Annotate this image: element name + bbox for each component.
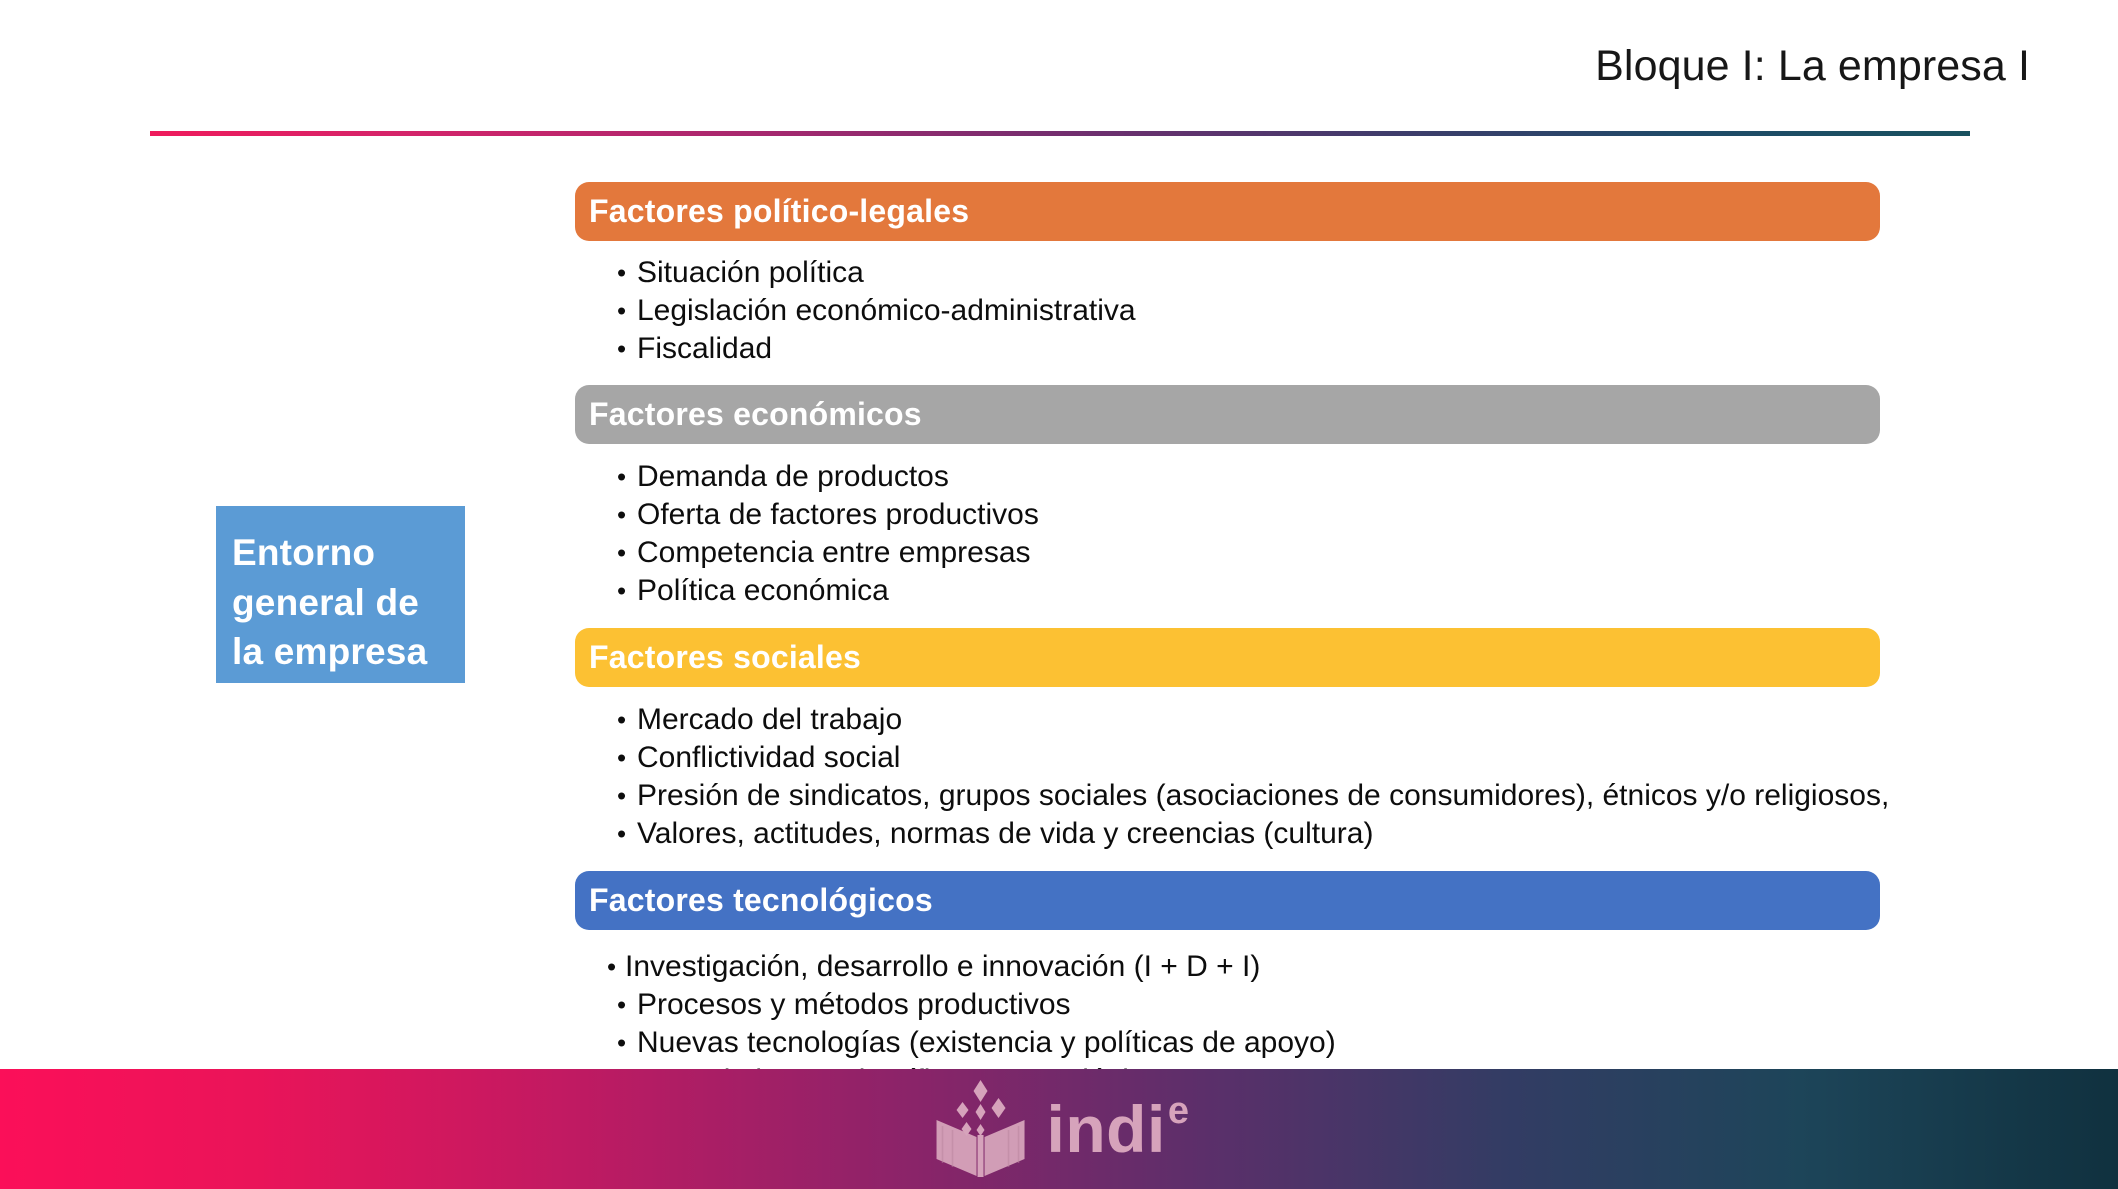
left-label-line-1: Entorno bbox=[232, 528, 465, 578]
spacer bbox=[575, 444, 1880, 458]
slide-header: Bloque I: La empresa I bbox=[0, 0, 2118, 140]
open-book-icon bbox=[929, 1080, 1033, 1178]
page-title: Bloque I: La empresa I bbox=[1595, 44, 2030, 89]
left-label-line-3: la empresa bbox=[232, 627, 465, 677]
spacer bbox=[575, 610, 1880, 628]
brand-wordmark: indi e bbox=[1047, 1096, 1190, 1162]
spacer bbox=[575, 687, 1880, 701]
spacer bbox=[575, 930, 1880, 948]
section-header-sociales: Factores sociales bbox=[575, 628, 1880, 687]
factor-sections: Factores político-legales Situación polí… bbox=[575, 182, 1880, 1138]
list-item: Investigación, desarrollo e innovación (… bbox=[575, 948, 1880, 986]
slide-footer: indi e bbox=[0, 1069, 2118, 1189]
list-item: Fiscalidad bbox=[575, 330, 1880, 368]
slide: Bloque I: La empresa I Entorno general d… bbox=[0, 0, 2118, 1189]
section-header-economicos: Factores económicos bbox=[575, 385, 1880, 444]
list-item: Presión de sindicatos, grupos sociales (… bbox=[575, 777, 1880, 815]
brand-name: indi bbox=[1047, 1096, 1166, 1162]
bullet-list-economicos: Demanda de productos Oferta de factores … bbox=[575, 458, 1880, 610]
list-item: Oferta de factores productivos bbox=[575, 496, 1880, 534]
list-item: Competencia entre empresas bbox=[575, 534, 1880, 572]
left-category-label: Entorno general de la empresa bbox=[216, 506, 465, 683]
list-item: Legislación económico-administrativa bbox=[575, 292, 1880, 330]
section-economicos: Factores económicos Demanda de productos… bbox=[575, 385, 1880, 628]
section-header-tecnologicos: Factores tecnológicos bbox=[575, 871, 1880, 930]
section-sociales: Factores sociales Mercado del trabajo Co… bbox=[575, 628, 1880, 871]
list-item: Demanda de productos bbox=[575, 458, 1880, 496]
bullet-list-sociales: Mercado del trabajo Conflictividad socia… bbox=[575, 701, 1880, 853]
list-item: Nuevas tecnologías (existencia y polític… bbox=[575, 1024, 1880, 1062]
spacer bbox=[575, 853, 1880, 871]
list-item: Conflictividad social bbox=[575, 739, 1880, 777]
list-item: Mercado del trabajo bbox=[575, 701, 1880, 739]
section-header-politico-legales: Factores político-legales bbox=[575, 182, 1880, 241]
left-label-line-2: general de bbox=[232, 578, 465, 628]
section-politico-legales: Factores político-legales Situación polí… bbox=[575, 182, 1880, 385]
spacer bbox=[575, 241, 1880, 254]
brand-superscript: e bbox=[1168, 1092, 1190, 1130]
spacer bbox=[575, 368, 1880, 385]
bullet-list-politico-legales: Situación política Legislación económico… bbox=[575, 254, 1880, 368]
list-item: Situación política bbox=[575, 254, 1880, 292]
header-divider bbox=[150, 131, 1970, 136]
list-item: Política económica bbox=[575, 572, 1880, 610]
list-item: Procesos y métodos productivos bbox=[575, 986, 1880, 1024]
list-item: Valores, actitudes, normas de vida y cre… bbox=[575, 815, 1880, 853]
brand-logo: indi e bbox=[929, 1080, 1190, 1178]
